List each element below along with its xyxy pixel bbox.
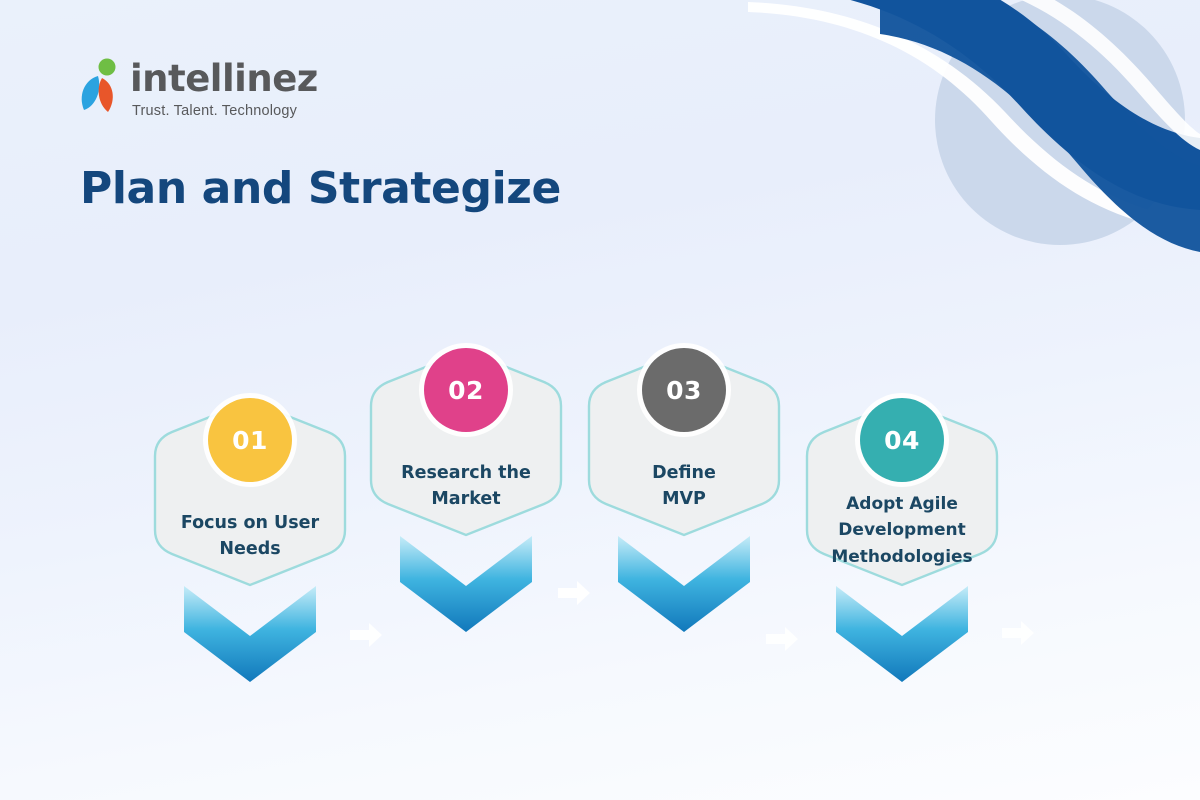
step-item-01[interactable]: 01 Focus on User Needs (152, 398, 348, 682)
step-chevron-04 (836, 586, 968, 682)
arrow-right-icon (1002, 621, 1034, 645)
step-number-04: 04 (884, 426, 920, 455)
step-badge-01: 01 (208, 398, 292, 482)
step-number-03: 03 (666, 376, 702, 405)
arrow-right-icon (350, 623, 382, 647)
step-badge-03: 03 (642, 348, 726, 432)
step-number-02: 02 (448, 376, 484, 405)
step-badge-04: 04 (860, 398, 944, 482)
step-chevron-01 (184, 586, 316, 682)
step-item-03[interactable]: 03 Define MVP (586, 348, 782, 632)
connector-arrow-3 (764, 624, 800, 654)
step-label-02: Research the Market (382, 461, 550, 512)
step-number-01: 01 (232, 426, 268, 455)
step-chevron-02 (400, 536, 532, 632)
connector-arrow-2 (556, 578, 592, 608)
step-label-04: Adopt Agile Development Methodologies (818, 491, 986, 570)
arrow-right-icon (766, 627, 798, 651)
steps-container: 01 Focus on User Needs (0, 0, 1200, 800)
step-item-04[interactable]: 04 Adopt Agile Development Methodologies (804, 398, 1000, 682)
connector-arrow-1 (348, 620, 384, 650)
step-item-02[interactable]: 02 Research the Market (368, 348, 564, 632)
step-label-03: Define MVP (600, 461, 768, 512)
arrow-right-icon (558, 581, 590, 605)
connector-arrow-4 (1000, 618, 1036, 648)
step-label-01: Focus on User Needs (166, 511, 334, 562)
step-badge-02: 02 (424, 348, 508, 432)
infographic-canvas: intellinez Trust. Talent. Technology Pla… (0, 0, 1200, 800)
step-chevron-03 (618, 536, 750, 632)
